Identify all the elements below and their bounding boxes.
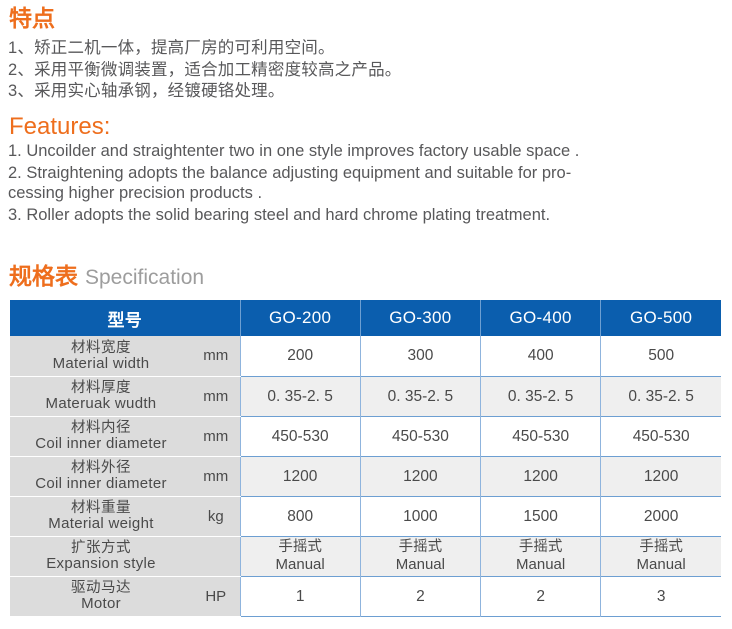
table-header-model: 型号 [10,300,240,336]
table-header-model-go200: GO-200 [240,300,360,336]
table-header-model-go500: GO-500 [601,300,721,336]
table-cell: 300 [360,336,480,376]
table-row: 材料重量Material weightkg800100015002000 [10,496,721,536]
table-cell: 1 [240,576,360,616]
table-row: 材料厚度Materuak wudthmm0. 35-2. 50. 35-2. 5… [10,376,721,416]
table-cell: 500 [601,336,721,376]
specification-table: 型号 GO-200 GO-300 GO-400 GO-500 材料宽度Mater… [10,300,721,617]
row-unit: mm [192,456,240,496]
row-label: 材料内径Coil inner diameter [10,416,192,456]
table-row: 驱动马达MotorHP1223 [10,576,721,616]
row-label: 材料厚度Materuak wudth [10,376,192,416]
row-unit [192,536,240,576]
row-label-cn: 材料厚度 [10,380,192,396]
row-label: 材料外径Coil inner diameter [10,456,192,496]
table-header-model-go300: GO-300 [360,300,480,336]
table-body: 材料宽度Material widthmm200300400500材料厚度Mate… [10,336,721,616]
row-label: 材料重量Material weight [10,496,192,536]
features-list: 1. Uncoilder and straightenter two in on… [8,141,624,226]
table-cell: 450-530 [360,416,480,456]
row-label-cn: 驱动马达 [10,580,192,596]
row-label-cn: 扩张方式 [10,540,192,556]
table-cell: 800 [240,496,360,536]
features-item: 1. Uncoilder and straightenter two in on… [8,141,624,162]
table-cell: 450-530 [481,416,601,456]
product-spec-page: 特点 1、矫正二机一体，提高厂房的可利用空间。 2、采用平衡微调装置，适合加工精… [0,0,732,629]
features-item: 3. Roller adopts the solid bearing steel… [8,205,624,226]
table-cell: 1200 [360,456,480,496]
row-label-cn: 材料重量 [10,500,192,516]
row-label-cn: 材料内径 [10,420,192,436]
points-list: 1、矫正二机一体，提高厂房的可利用空间。 2、采用平衡微调装置，适合加工精密度较… [8,38,708,103]
table-header-model-go400: GO-400 [481,300,601,336]
table-cell-en: Manual [241,556,360,573]
features-item: 2. Straightening adopts the balance adju… [8,163,624,204]
table-cell-cn: 手摇式 [361,539,480,556]
row-label: 扩张方式Expansion style [10,536,192,576]
points-line: 1、矫正二机一体，提高厂房的可利用空间。 [8,38,708,60]
table-cell: 1200 [240,456,360,496]
table-row: 材料外径Coil inner diametermm120012001200120… [10,456,721,496]
specification-title-en: Specification [85,266,204,289]
table-header-row: 型号 GO-200 GO-300 GO-400 GO-500 [10,300,721,336]
table-cell: 0. 35-2. 5 [601,376,721,416]
features-section-title: Features: [9,113,110,140]
table-cell: 1500 [481,496,601,536]
row-label: 材料宽度Material width [10,336,192,376]
table-cell: 2 [481,576,601,616]
table-row: 材料内径Coil inner diametermm450-530450-5304… [10,416,721,456]
row-label-en: Motor [10,596,192,612]
table-cell: 3 [601,576,721,616]
row-unit: mm [192,416,240,456]
table-cell: 400 [481,336,601,376]
table-row: 材料宽度Material widthmm200300400500 [10,336,721,376]
row-unit: mm [192,336,240,376]
row-label-cn: 材料外径 [10,460,192,476]
table-cell-cn: 手摇式 [601,539,721,556]
row-label-en: Expansion style [10,556,192,572]
table-header: 型号 GO-200 GO-300 GO-400 GO-500 [10,300,721,336]
table-cell: 0. 35-2. 5 [360,376,480,416]
table-cell: 1000 [360,496,480,536]
points-line: 2、采用平衡微调装置，适合加工精密度较高之产品。 [8,60,708,82]
table-cell-en: Manual [481,556,600,573]
table-cell: 450-530 [240,416,360,456]
table-cell-en: Manual [361,556,480,573]
table-cell: 1200 [601,456,721,496]
row-unit: kg [192,496,240,536]
row-label: 驱动马达Motor [10,576,192,616]
table-cell: 手摇式Manual [360,536,480,576]
row-unit: mm [192,376,240,416]
row-label-en: Materuak wudth [10,396,192,412]
row-label-cn: 材料宽度 [10,340,192,356]
specification-section-title: 规格表Specification [9,262,204,294]
table-cell: 2 [360,576,480,616]
table-cell: 手摇式Manual [240,536,360,576]
points-section-title: 特点 [9,5,55,32]
points-line: 3、采用实心轴承钢，经镀硬铬处理。 [8,81,708,103]
table-cell-cn: 手摇式 [481,539,600,556]
table-cell: 200 [240,336,360,376]
table-cell: 手摇式Manual [601,536,721,576]
table-cell: 450-530 [601,416,721,456]
table-cell: 0. 35-2. 5 [481,376,601,416]
table-cell: 0. 35-2. 5 [240,376,360,416]
row-label-en: Material weight [10,516,192,532]
table-cell: 手摇式Manual [481,536,601,576]
table-row: 扩张方式Expansion style手摇式Manual手摇式Manual手摇式… [10,536,721,576]
row-unit: HP [192,576,240,616]
table-cell-cn: 手摇式 [241,539,360,556]
row-label-en: Coil inner diameter [10,476,192,492]
specification-title-cn: 规格表 [9,263,78,289]
row-label-en: Coil inner diameter [10,436,192,452]
row-label-en: Material width [10,356,192,372]
table-cell-en: Manual [601,556,721,573]
table-cell: 2000 [601,496,721,536]
table-cell: 1200 [481,456,601,496]
